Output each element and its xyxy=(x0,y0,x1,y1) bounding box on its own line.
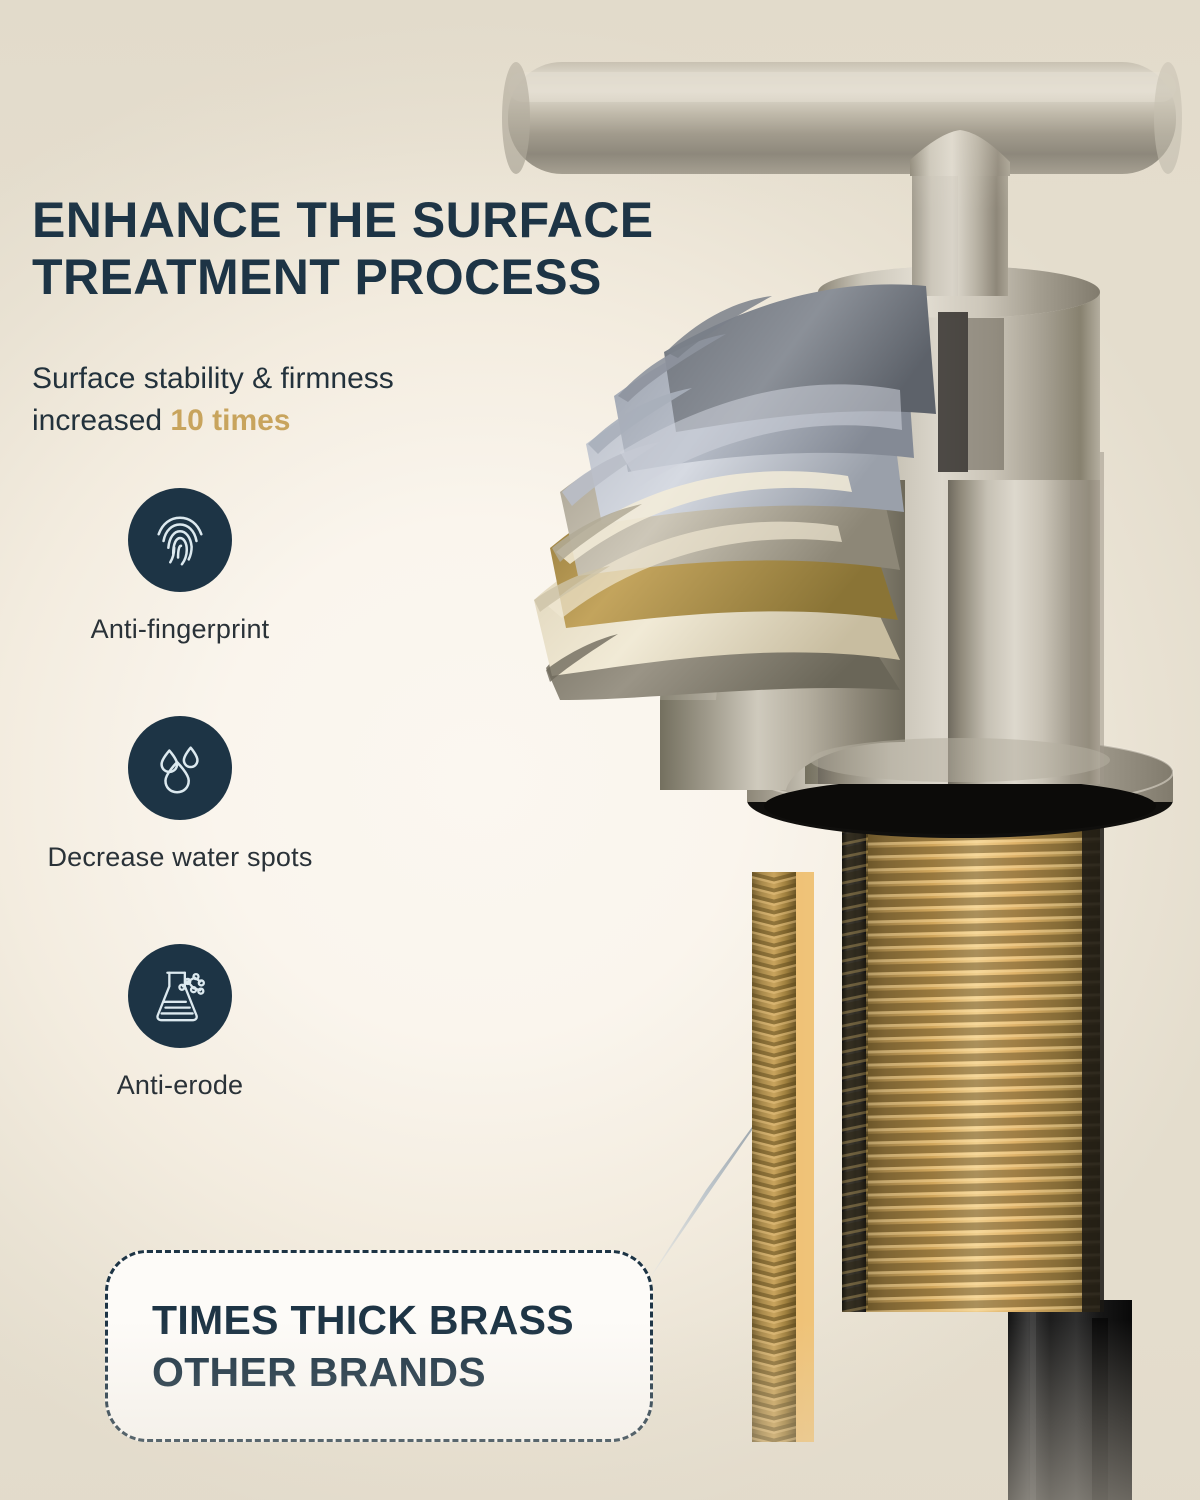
water-drops-icon xyxy=(149,737,211,799)
feature-label: Anti-fingerprint xyxy=(0,614,360,645)
feature-badge xyxy=(128,488,232,592)
subtitle-accent: 10 times xyxy=(170,404,290,437)
feature-label: Decrease water spots xyxy=(0,842,360,873)
page-title: ENHANCE THE SURFACE TREATMENT PROCESS xyxy=(32,192,832,305)
feature-item-decrease-water-spots: Decrease water spots xyxy=(0,716,360,873)
subtitle: Surface stability & firmness increased 1… xyxy=(32,358,592,442)
feature-item-anti-erode: Anti-erode xyxy=(0,944,360,1101)
subtitle-prefix: increased xyxy=(32,404,170,437)
feature-label: Anti-erode xyxy=(0,1070,360,1101)
subtitle-line-1: Surface stability & firmness xyxy=(32,358,592,400)
subtitle-line-2: increased 10 times xyxy=(32,400,592,442)
feature-badge xyxy=(128,716,232,820)
callout-line-2: OTHER BRANDS xyxy=(152,1346,650,1398)
callout-box: TIMES THICK BRASS OTHER BRANDS xyxy=(105,1250,653,1442)
infographic-poster: ENHANCE THE SURFACE TREATMENT PROCESS Su… xyxy=(0,0,1200,1500)
feature-badge xyxy=(128,944,232,1048)
fingerprint-icon xyxy=(149,509,211,571)
callout-line-1: TIMES THICK BRASS xyxy=(152,1294,650,1346)
feature-item-anti-fingerprint: Anti-fingerprint xyxy=(0,488,360,645)
flask-molecule-icon xyxy=(149,965,211,1027)
